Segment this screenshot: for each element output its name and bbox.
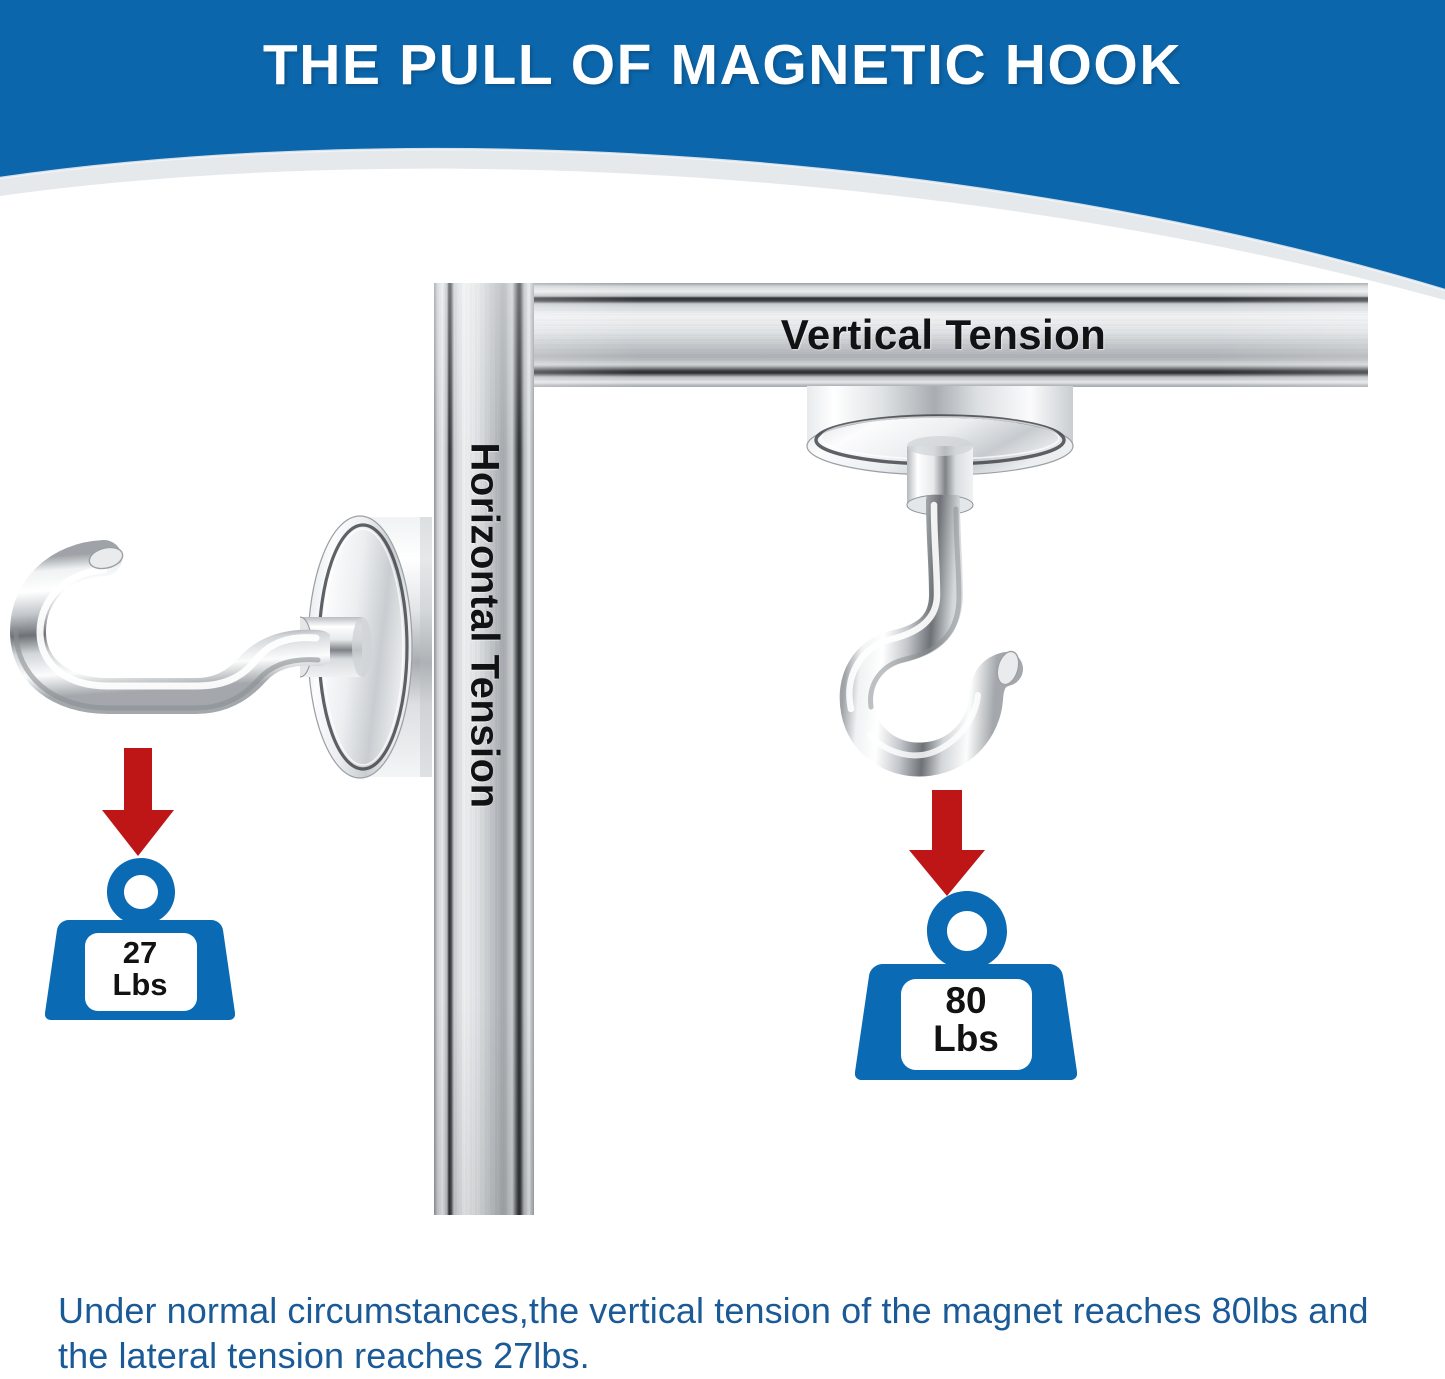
beam-sheen xyxy=(519,283,1368,387)
weight-icon-vertical: 80 Lbs xyxy=(855,888,1077,1080)
page-title: THE PULL OF MAGNETIC HOOK xyxy=(0,36,1445,96)
left-down-arrow-icon xyxy=(98,748,178,858)
weight-shape xyxy=(45,855,235,1020)
right-down-arrow-icon xyxy=(905,790,989,898)
caption-text: Under normal circumstances,the vertical … xyxy=(58,1288,1398,1379)
header-banner: THE PULL OF MAGNETIC HOOK xyxy=(0,0,1445,300)
weight-shape xyxy=(855,888,1077,1080)
infographic-canvas: THE PULL OF MAGNETIC HOOK Vertical Tensi… xyxy=(0,0,1445,1370)
weight-icon-lateral: 27 Lbs xyxy=(45,855,235,1020)
right-hook xyxy=(830,495,1090,815)
horizontal-metal-beam xyxy=(519,283,1368,387)
